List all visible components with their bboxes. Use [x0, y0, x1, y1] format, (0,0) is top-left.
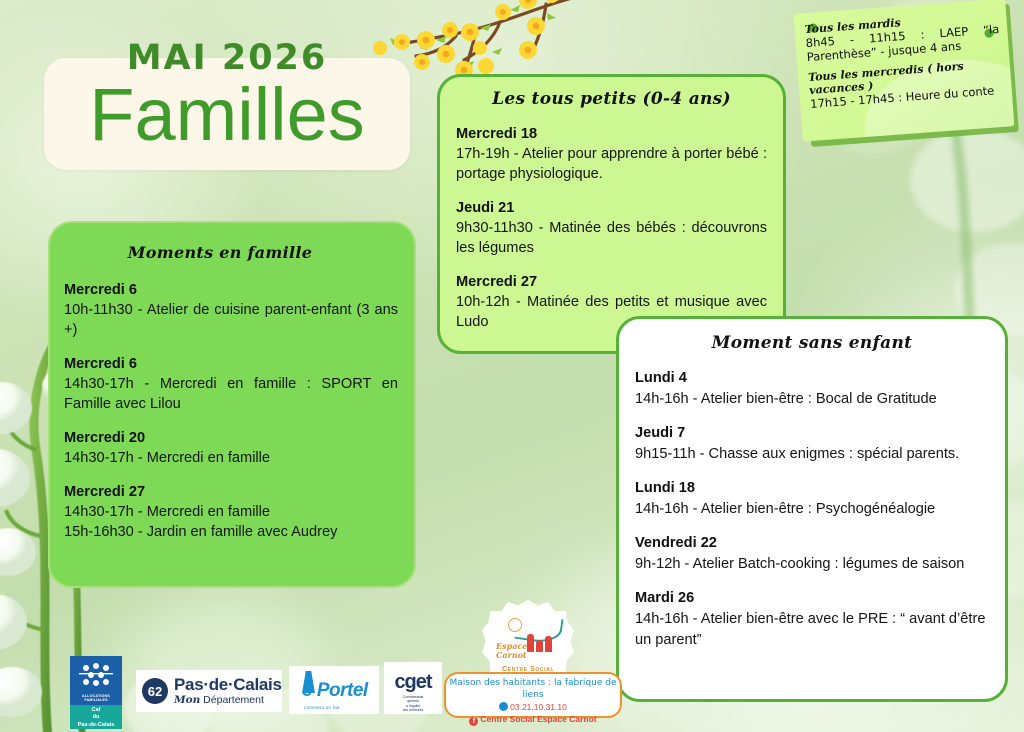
recurring-activities-sticky-note: Tous les mardis 8h45 - 11h15 : LAEP “la …: [794, 0, 1015, 142]
entry-description: 10h-11h30 - Atelier de cuisine parent-en…: [64, 300, 398, 340]
entry-date: Lundi 18: [635, 478, 989, 499]
entry-date: Lundi 4: [635, 368, 989, 389]
contact-info-box: Maison des habitants : la fabrique de li…: [444, 672, 622, 718]
family-figures-icon: [527, 634, 552, 652]
poster-canvas: MAI 2026 Familles Tous les mardis 8h45 -…: [0, 0, 1024, 732]
phone-icon: [499, 702, 508, 711]
entry-date: Jeudi 7: [635, 423, 989, 444]
entry-date: Jeudi 21: [456, 198, 767, 218]
entry-description: 14h30-17h - Mercredi en famille: [64, 448, 398, 468]
card-toddlers-entries: Mercredi 18 17h-19h - Atelier pour appre…: [440, 111, 783, 332]
facebook-icon: f: [469, 717, 478, 726]
entry-description: 9h30-11h30 - Matinée des bébés : découvr…: [456, 218, 767, 258]
entry-description: 14h30-17h - Mercredi en famille 15h-16h3…: [64, 502, 398, 542]
logo-cget: cget Commissariat général à l'égalité de…: [384, 662, 442, 714]
logo-pas-de-calais: 62 Pas·de·Calais Mon Département: [136, 670, 282, 712]
caf-emblem-icon: [70, 656, 122, 694]
card-toddlers-title: Les tous petits (0-4 ans): [440, 77, 783, 111]
footer-logos: ALLOCATIONS FAMILIALES Caf du Pas-de-Cal…: [0, 642, 1024, 732]
logo-le-portel: e Portel comment on fait: [289, 666, 379, 714]
entry-date: Mercredi 6: [64, 354, 398, 374]
contact-phone-row: 03.21.10.31.10: [446, 701, 620, 713]
sticky-note-surface: Tous les mardis 8h45 - 11h15 : LAEP “la …: [794, 0, 1015, 142]
pdc-subtitle-italic: Mon: [174, 694, 200, 706]
entry-date: Mercredi 27: [456, 272, 767, 292]
carnot-name: Espace Carnot: [496, 642, 527, 660]
list-item: Lundi 4 14h-16h - Atelier bien-être : Bo…: [635, 368, 989, 410]
list-item: Mercredi 27 14h30-17h - Mercredi en fami…: [64, 482, 398, 542]
list-item: Mercredi 6 10h-11h30 - Atelier de cuisin…: [64, 280, 398, 340]
page-title: Familles: [44, 68, 410, 162]
list-item: Mercredi 20 14h30-17h - Mercredi en fami…: [64, 428, 398, 468]
pdc-number-badge: 62: [142, 678, 168, 704]
list-item: Jeudi 21 9h30-11h30 - Matinée des bébés …: [456, 198, 767, 258]
card-les-tous-petits: Les tous petits (0-4 ans) Mercredi 18 17…: [437, 74, 786, 354]
contact-facebook: Centre Social Espace Carnot: [480, 714, 596, 724]
entry-date: Mercredi 20: [64, 428, 398, 448]
entry-description: 9h15-11h - Chasse aux enigmes : spécial …: [635, 444, 989, 465]
cget-name: cget: [384, 672, 442, 692]
portel-mark: e Portel comment on fait: [292, 669, 376, 711]
card-family-entries: Mercredi 6 10h-11h30 - Atelier de cuisin…: [50, 264, 414, 542]
card-family-title: Moments en famille: [50, 223, 414, 264]
entry-date: Mercredi 27: [64, 482, 398, 502]
contact-facebook-row: fCentre Social Espace Carnot: [446, 713, 620, 726]
card-adults-entries: Lundi 4 14h-16h - Atelier bien-être : Bo…: [619, 355, 1005, 651]
portel-tagline: comment on fait: [304, 705, 340, 710]
entry-date: Vendredi 22: [635, 533, 989, 554]
list-item: Mercredi 6 14h30-17h - Mercredi en famil…: [64, 354, 398, 414]
card-moments-en-famille: Moments en famille Mercredi 6 10h-11h30 …: [48, 221, 416, 588]
list-item: Vendredi 22 9h-12h - Atelier Batch-cooki…: [635, 533, 989, 575]
entry-description: 17h-19h - Atelier pour apprendre à porte…: [456, 144, 767, 184]
contact-phone: 03.21.10.31.10: [510, 702, 567, 712]
portel-name: e Portel: [302, 680, 368, 702]
contact-slogan: Maison des habitants : la fabrique de li…: [446, 677, 620, 701]
entry-date: Mardi 26: [635, 588, 989, 609]
pdc-subtitle: Mon Département: [174, 694, 282, 706]
entry-description: 9h-12h - Atelier Batch-cooking : légumes…: [635, 554, 989, 575]
entry-date: Mercredi 18: [456, 124, 767, 144]
list-item: Mercredi 18 17h-19h - Atelier pour appre…: [456, 124, 767, 184]
entry-date: Mercredi 6: [64, 280, 398, 300]
entry-description: 14h-16h - Atelier bien-être : Psychogéné…: [635, 499, 989, 520]
card-adults-title: Moment sans enfant: [619, 319, 1005, 355]
list-item: Lundi 18 14h-16h - Atelier bien-être : P…: [635, 478, 989, 520]
cget-tagline: Commissariat général à l'égalité des ter…: [384, 695, 442, 713]
caf-name: Caf du Pas-de-Calais: [70, 705, 122, 729]
entry-description: 14h30-17h - Mercredi en famille : SPORT …: [64, 374, 398, 414]
entry-description: 14h-16h - Atelier bien-être : Bocal de G…: [635, 389, 989, 410]
caf-tagline: ALLOCATIONS FAMILIALES: [70, 694, 122, 705]
pdc-title: Pas·de·Calais: [174, 676, 282, 694]
list-item: Jeudi 7 9h15-11h - Chasse aux enigmes : …: [635, 423, 989, 465]
pdc-subtitle-rest: Département: [200, 694, 264, 706]
pdc-text: Pas·de·Calais Mon Département: [174, 676, 282, 706]
logo-caf-pas-de-calais: ALLOCATIONS FAMILIALES Caf du Pas-de-Cal…: [70, 656, 122, 722]
